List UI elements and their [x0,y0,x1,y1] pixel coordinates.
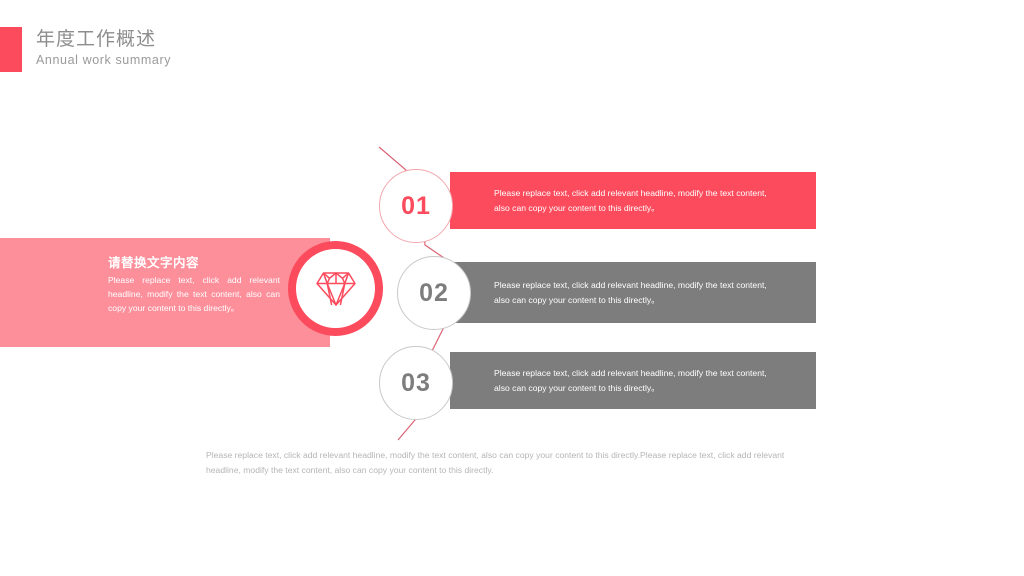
step-circle-03-label: 03 [401,369,431,398]
content-bar-02[interactable]: Please replace text, click add relevant … [450,262,816,323]
content-bar-01-text: Please replace text, click add relevant … [494,186,779,216]
step-circle-01[interactable]: 01 [379,169,453,243]
content-bar-01[interactable]: Please replace text, click add relevant … [450,172,816,229]
content-bar-03[interactable]: Please replace text, click add relevant … [450,352,816,409]
step-circle-01-label: 01 [401,192,431,221]
page-subtitle: Annual work summary [36,53,171,67]
step-circle-02[interactable]: 02 [397,256,471,330]
diamond-icon [315,271,357,307]
left-panel-body: Please replace text, click add relevant … [108,274,280,316]
footer-description: Please replace text, click add relevant … [206,448,816,478]
step-circle-02-label: 02 [419,279,449,308]
header-accent-bar [0,27,22,72]
page-title: 年度工作概述 [36,28,156,52]
content-bar-03-text: Please replace text, click add relevant … [494,366,779,396]
left-panel-title: 请替换文字内容 [108,252,283,271]
center-badge[interactable] [288,241,383,336]
step-circle-03[interactable]: 03 [379,346,453,420]
content-bar-02-text: Please replace text, click add relevant … [494,278,779,308]
